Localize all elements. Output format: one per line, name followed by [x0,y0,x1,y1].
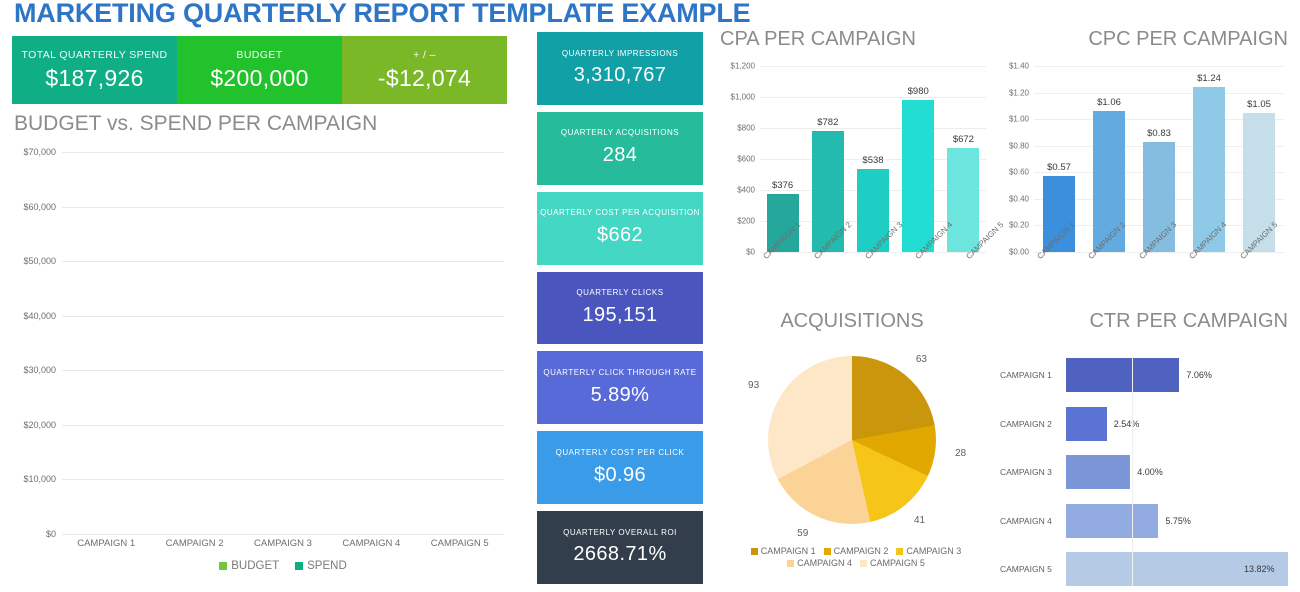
y-tick-label: $0.40 [1009,194,1029,203]
y-tick-label: $30,000 [23,365,56,375]
summary-cell-2: BUDGET$200,000 [177,36,342,104]
y-tick-label: $0.00 [1009,248,1029,257]
ctr-bar [1066,455,1130,489]
y-tick-label: $800 [737,124,755,133]
ctr-data-label: 7.06% [1186,370,1212,380]
y-tick-label: $200 [737,217,755,226]
y-tick-label: $600 [737,155,755,164]
ctr-row: CAMPAIGN 513.82% [1000,552,1288,586]
budget-vs-spend-plot: $0$10,000$20,000$30,000$40,000$50,000$60… [62,152,504,534]
y-tick-label: $50,000 [23,256,56,266]
kpi-card-value: 2668.71% [573,543,666,566]
bar-data-label: $1.24 [1197,73,1221,84]
y-tick-label: $1,200 [731,62,755,71]
summary-cell-3: + / –-$12,074 [342,36,507,104]
ctr-category-label: CAMPAIGN 2 [1000,419,1066,429]
ctr-bar [1066,407,1107,441]
ctr-row: CAMPAIGN 34.00% [1000,455,1288,489]
acquisitions-legend: CAMPAIGN 1CAMPAIGN 2CAMPAIGN 3CAMPAIGN 4… [728,546,984,568]
summary-cell-1: TOTAL QUARTERLY SPEND$187,926 [12,36,177,104]
x-axis-label: CAMPAIGN 4 [335,538,407,549]
ctr-row: CAMPAIGN 45.75% [1000,504,1288,538]
y-tick-label: $20,000 [23,420,56,430]
ctr-data-label: 4.00% [1137,467,1163,477]
legend-item: CAMPAIGN 5 [860,558,925,568]
legend-swatch [896,548,903,555]
acquisitions-pie-chart: ACQUISITIONS 6328415993 CAMPAIGN 1CAMPAI… [714,310,990,592]
y-tick-label: $0.80 [1009,141,1029,150]
legend-label: CAMPAIGN 4 [797,558,852,568]
x-axis-label: CAMPAIGN 3 [247,538,319,549]
legend-label: SPEND [307,560,347,572]
cpa-per-campaign-chart: CPA PER CAMPAIGN $0$200$400$600$800$1,00… [714,28,990,306]
ctr-data-label: 2.54% [1114,419,1140,429]
bar-slot: $1.06 [1084,66,1134,252]
legend-swatch [219,562,227,570]
bar-data-label: $980 [908,86,929,97]
kpi-card-value: $662 [597,224,643,247]
summary-banner: TOTAL QUARTERLY SPEND$187,926BUDGET$200,… [12,36,507,104]
bar-groups [62,152,504,534]
kpi-card-label: QUARTERLY CLICKS [574,289,665,298]
page-title: MARKETING QUARTERLY REPORT TEMPLATE EXAM… [14,0,750,29]
ctr-row: CAMPAIGN 17.06% [1000,358,1288,392]
kpi-card-value: 195,151 [582,304,657,327]
ctr-category-label: CAMPAIGN 1 [1000,370,1066,380]
legend-label: CAMPAIGN 3 [906,546,961,556]
kpi-card-value: 3,310,767 [574,64,667,87]
legend-item: CAMPAIGN 4 [787,558,852,568]
kpi-card-3: QUARTERLY COST PER ACQUISITION$662 [537,192,703,265]
acquisitions-plot-area: 6328415993 [714,352,990,532]
kpi-card-7: QUARTERLY OVERALL ROI2668.71% [537,511,703,584]
ctr-bar [1066,358,1179,392]
y-tick-label: $70,000 [23,147,56,157]
ctr-category-label: CAMPAIGN 4 [1000,516,1066,526]
bar-data-label: $376 [772,180,793,191]
gridline [62,534,504,535]
kpi-card-label: QUARTERLY OVERALL ROI [561,529,679,538]
kpi-card-value: 284 [603,144,638,167]
bar-data-label: $0.83 [1147,128,1171,139]
legend-swatch [787,560,794,567]
ctr-data-label: 13.82% [1244,564,1275,574]
cpa-x-axis: CAMPAIGN 1CAMPAIGN 2CAMPAIGN 3CAMPAIGN 4… [760,256,986,265]
kpi-card-1: QUARTERLY IMPRESSIONS3,310,767 [537,32,703,105]
legend-label: CAMPAIGN 5 [870,558,925,568]
kpi-card-label: QUARTERLY ACQUISITIONS [559,129,681,138]
kpi-card-label: QUARTERLY IMPRESSIONS [560,50,680,59]
legend-item: BUDGET [219,560,279,572]
legend-item: CAMPAIGN 1 [751,546,816,556]
pie-data-label: 63 [916,354,927,365]
kpi-card-column: QUARTERLY IMPRESSIONS3,310,767QUARTERLY … [537,32,703,584]
cpc-x-axis: CAMPAIGN 1CAMPAIGN 2CAMPAIGN 3CAMPAIGN 4… [1034,256,1284,265]
dashboard-root: MARKETING QUARTERLY REPORT TEMPLATE EXAM… [0,0,1300,592]
y-tick-label: $1.00 [1009,115,1029,124]
ctr-category-label: CAMPAIGN 5 [1000,564,1066,574]
bar: $672 [947,148,979,252]
x-axis-label: CAMPAIGN 1 [70,538,142,549]
bar-data-label: $538 [862,155,883,166]
y-tick-label: $60,000 [23,202,56,212]
ctr-plot-area: CAMPAIGN 17.06%CAMPAIGN 22.54%CAMPAIGN 3… [1000,358,1288,586]
pie-data-label: 93 [748,380,759,391]
bar-data-label: $0.57 [1047,162,1071,173]
bar: $980 [902,100,934,252]
summary-cell-value: -$12,074 [378,65,471,92]
budget-vs-spend-chart: BUDGET vs. SPEND PER CAMPAIGN $0$10,000$… [6,112,518,582]
ctr-data-label: 5.75% [1165,516,1191,526]
ctr-bar-track: 2.54% [1066,407,1288,441]
ctr-bar-track: 13.82% [1066,552,1288,586]
cpa-chart-title: CPA PER CAMPAIGN [720,28,990,51]
kpi-card-6: QUARTERLY COST PER CLICK$0.96 [537,431,703,504]
y-tick-label: $0 [46,529,56,539]
legend-swatch [824,548,831,555]
y-tick-label: $0.20 [1009,221,1029,230]
kpi-card-value: $0.96 [594,464,646,487]
legend-label: CAMPAIGN 2 [834,546,889,556]
legend-swatch [860,560,867,567]
pie-data-label: 59 [797,528,808,539]
kpi-card-5: QUARTERLY CLICK THROUGH RATE5.89% [537,351,703,424]
ctr-row: CAMPAIGN 22.54% [1000,407,1288,441]
legend-item: SPEND [295,560,347,572]
summary-cell-value: $200,000 [210,65,308,92]
budget-vs-spend-x-axis: CAMPAIGN 1CAMPAIGN 2CAMPAIGN 3CAMPAIGN 4… [62,538,504,549]
kpi-card-value: 5.89% [591,384,650,407]
legend-swatch [295,562,303,570]
budget-vs-spend-legend: BUDGETSPEND [62,560,504,572]
bar-slot: $0.57 [1034,66,1084,252]
bar-data-label: $782 [817,117,838,128]
y-tick-label: $0.60 [1009,168,1029,177]
x-axis-label: CAMPAIGN 5 [424,538,496,549]
cpc-chart-title: CPC PER CAMPAIGN [992,28,1288,51]
y-tick-label: $400 [737,186,755,195]
legend-label: CAMPAIGN 1 [761,546,816,556]
bar-data-label: $672 [953,134,974,145]
cpc-per-campaign-chart: CPC PER CAMPAIGN $0.00$0.20$0.40$0.60$0.… [992,28,1292,306]
ctr-bar-track: 5.75% [1066,504,1288,538]
bar-slot: $538 [850,66,895,252]
y-tick-label: $0 [746,248,755,257]
ctr-bar-track: 7.06% [1066,358,1288,392]
pie-data-label: 28 [955,448,966,459]
legend-swatch [751,548,758,555]
y-tick-label: $1,000 [731,93,755,102]
ctr-per-campaign-chart: CTR PER CAMPAIGN CAMPAIGN 17.06%CAMPAIGN… [992,310,1292,592]
y-tick-label: $1.40 [1009,62,1029,71]
kpi-card-label: QUARTERLY COST PER CLICK [554,449,687,458]
bar-data-label: $1.06 [1097,97,1121,108]
ctr-bar-track: 4.00% [1066,455,1288,489]
summary-cell-label: + / – [413,49,436,61]
budget-vs-spend-title: BUDGET vs. SPEND PER CAMPAIGN [14,112,518,136]
y-tick-label: $40,000 [23,311,56,321]
ctr-chart-title: CTR PER CAMPAIGN [992,310,1288,333]
ctr-category-label: CAMPAIGN 3 [1000,467,1066,477]
gridline [1132,358,1133,586]
kpi-card-label: QUARTERLY CLICK THROUGH RATE [541,369,698,378]
legend-item: CAMPAIGN 3 [896,546,961,556]
summary-cell-label: TOTAL QUARTERLY SPEND [22,49,168,61]
x-axis-label: CAMPAIGN 2 [159,538,231,549]
legend-item: CAMPAIGN 2 [824,546,889,556]
pie-slices [768,356,936,524]
kpi-card-2: QUARTERLY ACQUISITIONS284 [537,112,703,185]
y-tick-label: $10,000 [23,474,56,484]
ctr-bar [1066,504,1158,538]
kpi-card-4: QUARTERLY CLICKS195,151 [537,272,703,345]
legend-label: BUDGET [231,560,279,572]
summary-cell-label: BUDGET [236,49,282,61]
kpi-card-label: QUARTERLY COST PER ACQUISITION [538,209,702,218]
bar-data-label: $1.05 [1247,99,1271,110]
y-tick-label: $1.20 [1009,88,1029,97]
summary-cell-value: $187,926 [45,65,143,92]
pie-data-label: 41 [914,515,925,526]
acquisitions-title: ACQUISITIONS [714,310,990,333]
